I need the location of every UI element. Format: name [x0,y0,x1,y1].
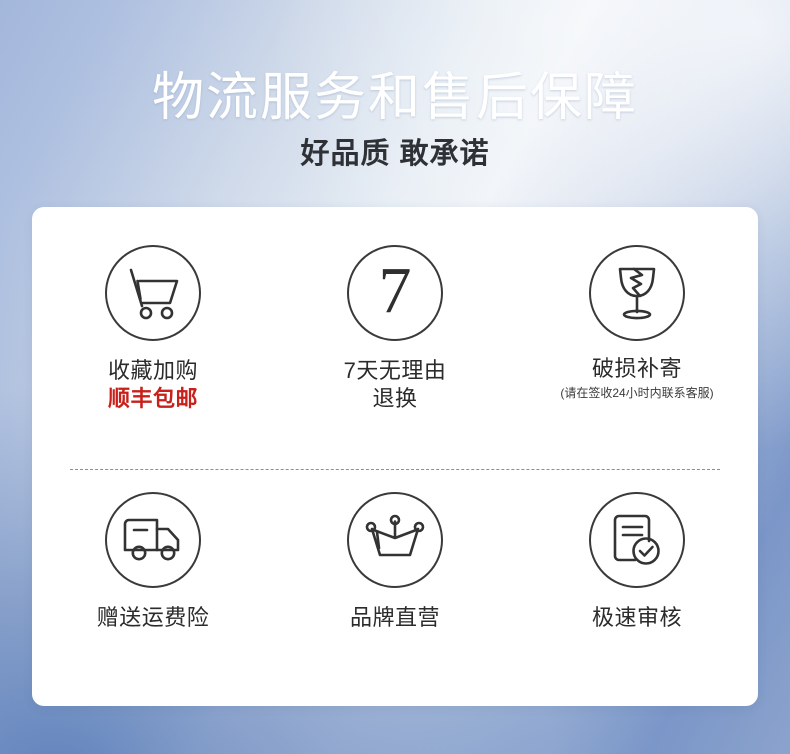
service-item-shipping-insurance[interactable]: 赠送运费险 [32,492,274,672]
service-label: 极速审核 [592,604,682,632]
service-item-breakage-reship[interactable]: 破损补寄 (请在签收24小时内联系客服) [516,245,758,445]
service-label: 破损补寄 [592,355,682,383]
promo-banner: 物流服务和售后保障 好品质 敢承诺 收藏加购 顺丰包邮 [0,0,790,754]
page-title: 物流服务和售后保障 [0,0,790,126]
service-item-seven-day-return[interactable]: 7 7天无理由 退换 [274,245,516,445]
services-row-bottom: 赠送运费险 品牌直营 [32,492,758,672]
service-label: 收藏加购 [108,357,198,385]
services-row-top: 收藏加购 顺丰包邮 7 7天无理由 退换 [32,245,758,445]
broken-glass-icon [589,245,685,341]
service-label-highlight: 顺丰包邮 [108,385,198,413]
service-label: 赠送运费险 [97,604,210,632]
page-subtitle: 好品质 敢承诺 [0,126,790,171]
service-label: 7天无理由 退换 [344,357,447,413]
crown-icon [347,492,443,588]
delivery-truck-icon [105,492,201,588]
section-divider [70,469,720,470]
seven-glyph: 7 [379,258,412,324]
shopping-cart-icon [105,245,201,341]
service-item-favorite-purchase[interactable]: 收藏加购 顺丰包邮 [32,245,274,445]
seven-day-icon: 7 [347,245,443,341]
service-item-brand-direct[interactable]: 品牌直营 [274,492,516,672]
banner-header: 物流服务和售后保障 好品质 敢承诺 [0,0,790,171]
service-note: (请在签收24小时内联系客服) [560,386,713,400]
service-item-fast-review[interactable]: 极速审核 [516,492,758,672]
document-check-icon [589,492,685,588]
services-card: 收藏加购 顺丰包邮 7 7天无理由 退换 [32,207,758,706]
service-label: 品牌直营 [350,604,440,632]
